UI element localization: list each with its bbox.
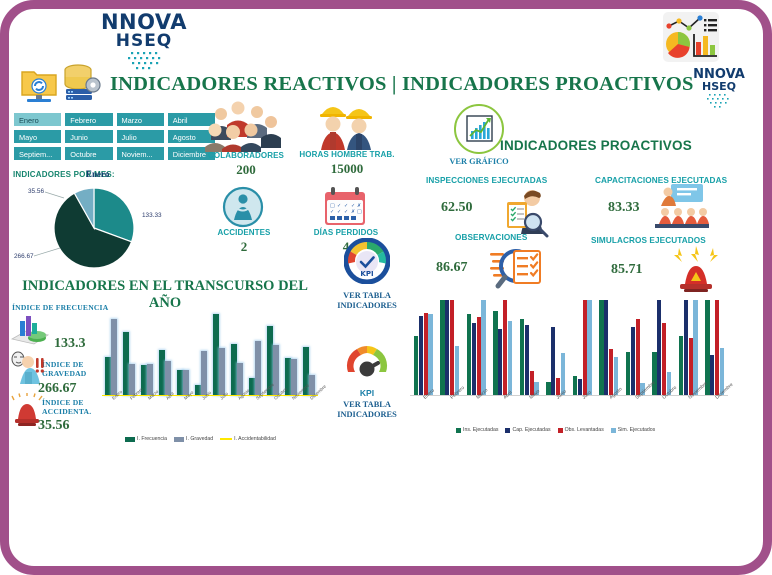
right-chart-legend: Ins. Ejecutadas Cap. Ejecutadas Obs. Lev… (456, 427, 655, 433)
bar-cap-ejecutadas-julio (578, 379, 582, 395)
bar-sim-ejecutados-marzo (481, 300, 485, 395)
bar-indicadores-anio: EneroFebreroMarzoAbrilMayoJunioJulioAgos… (102, 310, 318, 418)
bar-ins-ejecutadas-mayo (520, 319, 524, 395)
bar-i-gravedad-junio (201, 351, 207, 395)
line-chart-growth-icon (453, 103, 505, 155)
indice-frecuencia-label: ÍNDICE DE FRECUENCIA (12, 303, 108, 312)
bar-sim-ejecutados-julio (587, 300, 591, 395)
database-gear-icon[interactable] (58, 60, 104, 111)
bar-sim-ejecutados-abril (508, 321, 512, 395)
bar-ins-ejecutadas-enero (414, 336, 418, 395)
chart-3d-icon (10, 313, 52, 352)
month-selector[interactable]: Enero Febrero Marzo Abril Mayo Junio Jul… (13, 112, 216, 161)
month-button-mayo[interactable]: Mayo (13, 129, 62, 144)
indice-gravedad-label: ÍNDICE DE GRAVEDAD (42, 360, 104, 378)
bar-i-gravedad-septiembre (255, 341, 261, 395)
bar-ins-ejecutadas-febrero (440, 300, 444, 395)
bar-cap-ejecutadas-abril (498, 329, 502, 396)
horas-hombre-value: 15000 (296, 161, 398, 177)
legend-item-accidentabilidad: I. Accidentabilidad (220, 436, 276, 442)
bar-i-frecuencia-agosto (231, 344, 237, 395)
pie-leader-lines (12, 186, 172, 276)
dias-perdidos-label: DÍAS PERDIDOS (300, 228, 392, 237)
bar-cap-ejecutadas-febrero (445, 300, 449, 395)
bar-ins-ejecutadas-abril (493, 311, 497, 395)
inspecciones-value: 62.50 (441, 200, 473, 216)
dashboard-canvas: NNOVA HSEQ (0, 0, 772, 575)
bar-i-gravedad-abril (165, 361, 171, 395)
bar-i-frecuencia-febrero (123, 332, 129, 395)
bar-i-frecuencia-septiembre (249, 378, 255, 395)
month-button-marzo[interactable]: Marzo (116, 112, 165, 127)
kpi-check-gauge-icon: KPI (344, 238, 390, 284)
svg-text:✓: ✓ (330, 209, 334, 215)
kpi-speedometer-icon (344, 342, 390, 384)
simulacros-label: SIMULACROS EJECUTADOS (591, 236, 706, 245)
month-button-octubre[interactable]: Octubre (64, 146, 113, 161)
bar-ins-ejecutadas-agosto (599, 300, 603, 395)
month-button-septiembre[interactable]: Septiem... (13, 146, 62, 161)
bar-ins-ejecutadas-diciembre (705, 300, 709, 395)
bar-obs-levantadas-octubre (662, 323, 666, 395)
bar-cap-ejecutadas-enero (419, 316, 423, 395)
bar-obs-levantadas-agosto (609, 349, 613, 395)
inspecciones-label: INSPECCIONES EJECUTADAS (426, 176, 547, 185)
svg-text:✗: ✗ (351, 209, 355, 215)
nnova-hseq-logo-small: NNOVA HSEQ (688, 68, 750, 113)
people-group-icon (205, 100, 283, 157)
bar-cap-ejecutadas-diciembre (710, 355, 714, 395)
bar-i-frecuencia-enero (105, 357, 111, 395)
left-chart-legend: I. Frecuencia I. Gravedad I. Accidentabi… (125, 436, 276, 442)
ver-tabla-indicadores-button-1[interactable]: KPI VER TABLA INDICADORES (330, 238, 404, 310)
checklist-magnifier-icon (490, 243, 546, 298)
bar-indicadores-proactivos: EneroFebreroMarzoAbrilMayoJunioJulioAgos… (410, 300, 728, 415)
bar-i-gravedad-julio (219, 348, 225, 395)
colaboradores-value: 200 (200, 162, 292, 178)
bar-i-frecuencia-junio (195, 385, 201, 395)
month-button-enero[interactable]: Enero (13, 112, 62, 127)
emergency-alarm-icon (673, 246, 719, 297)
bar-cap-ejecutadas-octubre (657, 300, 661, 395)
accidentes-value: 2 (199, 239, 289, 255)
ver-tabla-indicadores-button-2[interactable]: KPI VER TABLA INDICADORES (330, 342, 404, 419)
bar-sim-ejecutados-noviembre (693, 300, 697, 395)
bar-ins-ejecutadas-marzo (467, 314, 471, 395)
accidentes-label: ACCIDENTES (199, 228, 289, 237)
bar-cap-ejecutadas-marzo (472, 323, 476, 395)
nnova-hseq-logo: NNOVA HSEQ (98, 12, 190, 75)
bar-ins-ejecutadas-julio (573, 376, 577, 395)
calendar-icon: □✓✓✓✗ ✓✓✓✗□ (322, 186, 368, 233)
horas-hombre-label: HORAS HOMBRE TRAB. (296, 150, 398, 159)
ver-tabla-indicadores-label-2: VER TABLA INDICADORES (330, 400, 404, 419)
ver-grafico-button[interactable]: VER GRÁFICO (449, 103, 509, 167)
indicadores-por-mes-value: Enero (86, 169, 109, 179)
analytics-dashboard-icon[interactable] (663, 12, 719, 67)
logo-dots-icon (98, 51, 190, 75)
indice-accidentabilidad-value: 35.56 (38, 418, 70, 434)
capacitaciones-value: 83.33 (608, 200, 640, 216)
svg-text:✓: ✓ (337, 209, 341, 215)
bar-i-gravedad-agosto (237, 363, 243, 395)
bar-ins-ejecutadas-noviembre (679, 336, 683, 395)
injured-person-icon (222, 186, 264, 233)
legend-item-cap-ejecutadas: Cap. Ejecutadas (505, 427, 550, 433)
simulacros-value: 85.71 (611, 262, 643, 278)
bar-obs-levantadas-marzo (477, 317, 481, 395)
workers-helmet-icon (318, 98, 376, 157)
bar-cap-ejecutadas-noviembre (684, 300, 688, 395)
svg-text:KPI: KPI (360, 270, 373, 278)
legend-item-sim-ejecutados: Sim. Ejecutados (611, 427, 655, 433)
bar-cap-ejecutadas-septiembre (631, 327, 635, 395)
indice-accidentabilidad-label: ÍNDICE DE ACCIDENTA. (42, 398, 104, 416)
proactive-section-title: INDICADORES PROACTIVOS (500, 138, 692, 153)
legend-item-gravedad: I. Gravedad (174, 436, 213, 442)
bar-obs-levantadas-diciembre (715, 300, 719, 395)
indice-frecuencia-value: 133.3 (54, 336, 86, 352)
ver-tabla-indicadores-label-1: VER TABLA INDICADORES (330, 291, 404, 310)
bar-i-frecuencia-abril (159, 350, 165, 395)
month-button-febrero[interactable]: Febrero (64, 112, 113, 127)
logo-small-line2: HSEQ (702, 80, 736, 93)
training-class-icon (655, 182, 709, 239)
legend-item-frecuencia: I. Frecuencia (125, 436, 167, 442)
svg-text:□: □ (357, 209, 362, 215)
ver-grafico-label: VER GRÁFICO (449, 157, 509, 167)
bar-i-frecuencia-mayo (177, 370, 183, 396)
bar-ins-ejecutadas-octubre (652, 352, 656, 395)
bar-obs-levantadas-abril (503, 300, 507, 395)
bar-obs-levantadas-enero (424, 313, 428, 395)
colaboradores-label: COLABORADORES (200, 151, 292, 160)
bar-obs-levantadas-noviembre (689, 338, 693, 395)
legend-item-ins-ejecutadas: Ins. Ejecutadas (456, 427, 498, 433)
bar-i-gravedad-enero (111, 319, 117, 395)
bar-i-frecuencia-julio (213, 314, 219, 395)
bar-obs-levantadas-septiembre (636, 319, 640, 395)
observaciones-value: 86.67 (436, 260, 468, 276)
bar-sim-ejecutados-enero (428, 314, 432, 395)
observaciones-label: OBSERVACIONES (455, 233, 527, 242)
bar-cap-ejecutadas-junio (551, 327, 555, 395)
bar-cap-ejecutadas-agosto (604, 300, 608, 395)
logo-line2: HSEQ (116, 31, 173, 51)
bar-ins-ejecutadas-septiembre (626, 352, 630, 395)
month-button-junio[interactable]: Junio (64, 129, 113, 144)
kpi-text-2: KPI (330, 389, 404, 398)
bar-obs-levantadas-febrero (450, 300, 454, 395)
page-title: INDICADORES REACTIVOS | INDICADORES PROA… (110, 73, 655, 96)
svg-text:✓: ✓ (344, 209, 348, 215)
bar-cap-ejecutadas-mayo (525, 325, 529, 395)
month-button-julio[interactable]: Julio (116, 129, 165, 144)
bar-ins-ejecutadas-junio (546, 382, 550, 395)
bar-obs-levantadas-julio (583, 300, 587, 395)
legend-item-obs-levantadas: Obs. Levantadas (558, 427, 604, 433)
bar-i-gravedad-octubre (273, 345, 279, 395)
folder-sync-icon[interactable] (18, 62, 60, 109)
bar-i-gravedad-noviembre (291, 359, 297, 395)
month-button-noviembre[interactable]: Noviem... (116, 146, 165, 161)
